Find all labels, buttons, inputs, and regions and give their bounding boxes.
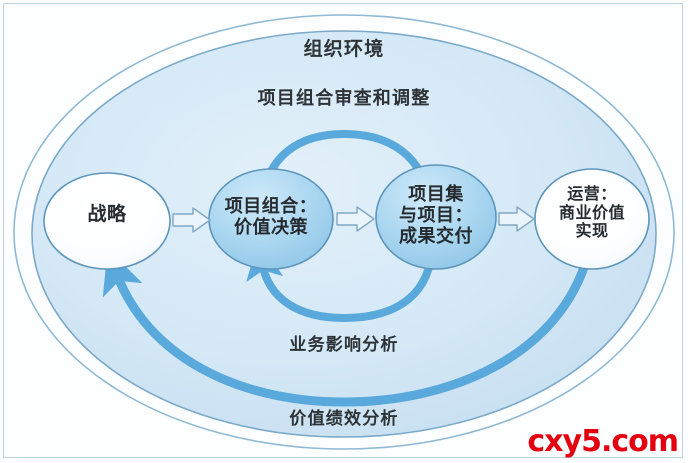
node-portfolio[interactable] [209, 169, 333, 269]
node-operations[interactable] [535, 169, 649, 269]
diagram-canvas: 组织环境 项目组合审查和调整 业务影响分析 价值绩效分析 战略 项目组合： 价值… [0, 0, 688, 463]
watermark: cxy5.com [527, 427, 678, 457]
node-strategy[interactable] [44, 173, 170, 269]
diagram-svg [0, 0, 688, 463]
node-programs[interactable] [376, 165, 496, 269]
